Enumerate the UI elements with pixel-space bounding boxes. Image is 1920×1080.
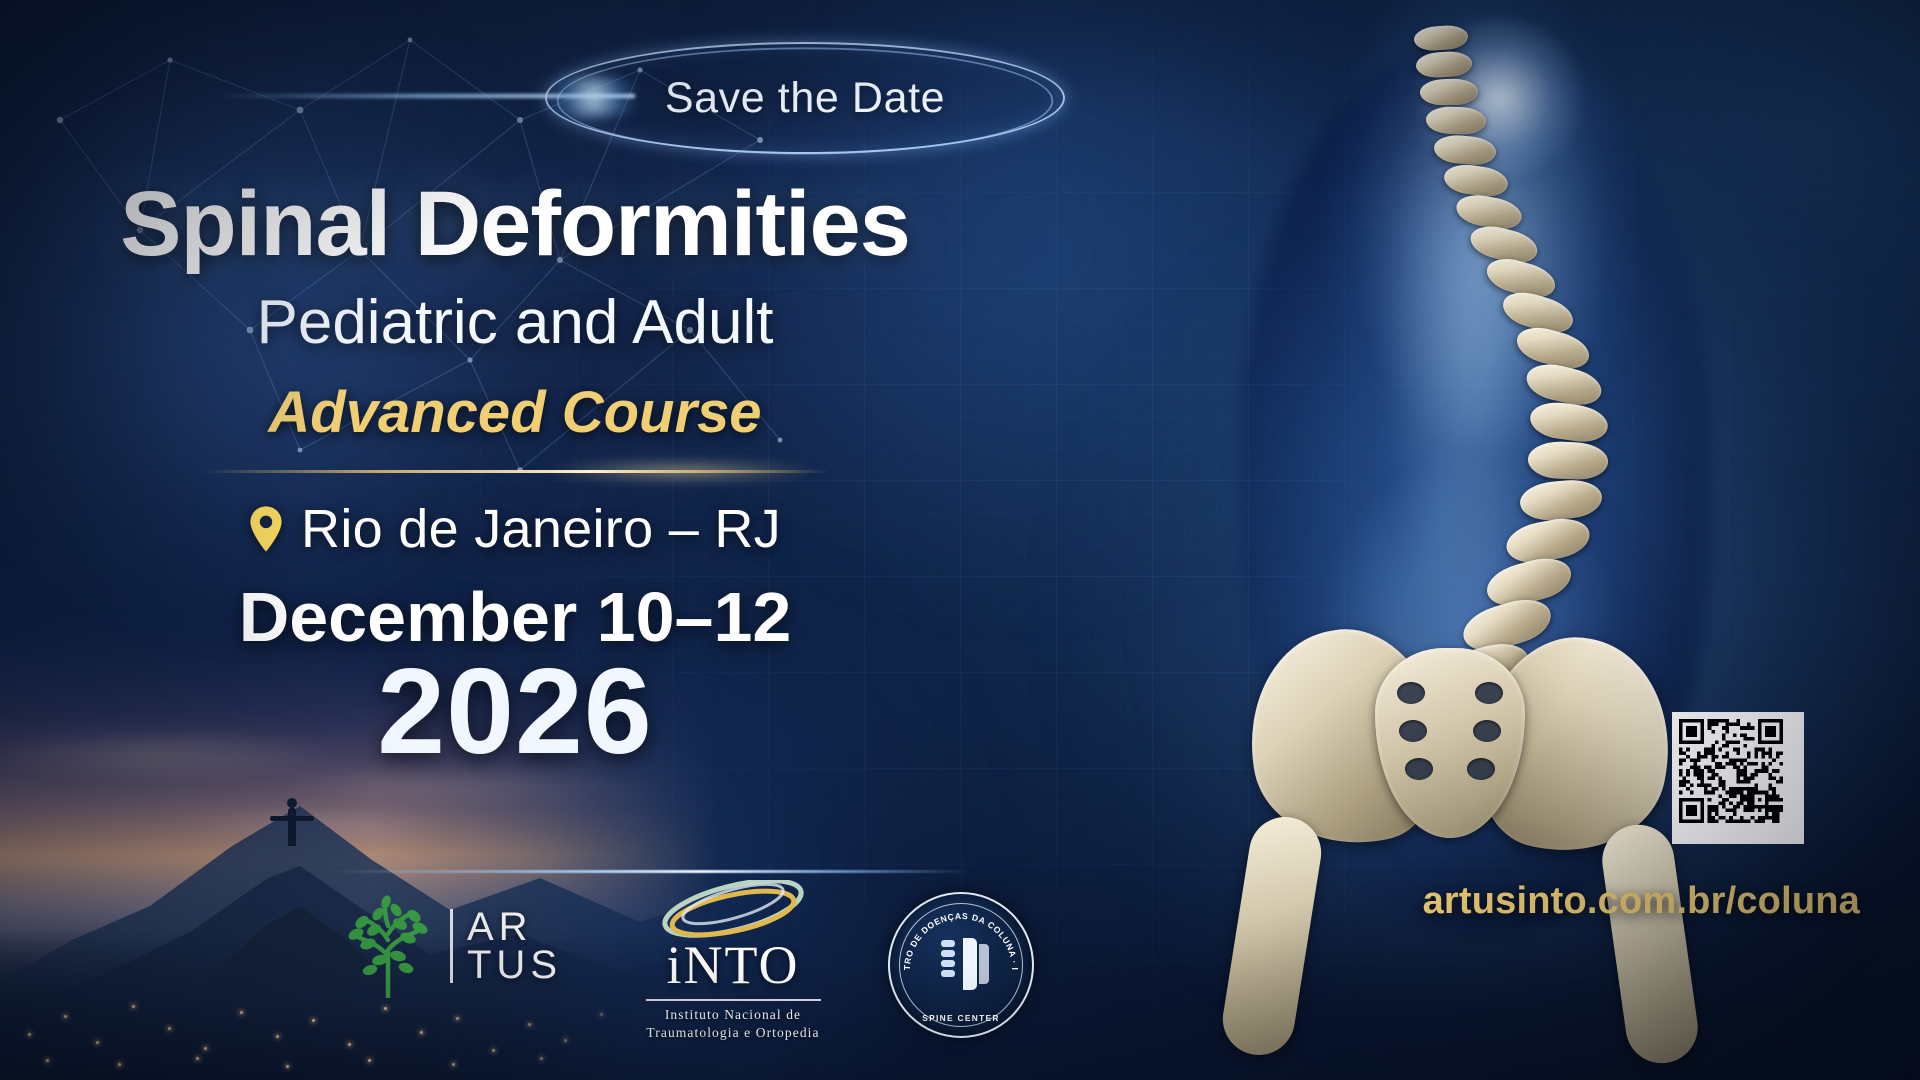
artus-label-line2: TUS — [467, 946, 562, 984]
event-url[interactable]: artusinto.com.br/coluna — [1423, 880, 1860, 923]
tree-icon — [340, 894, 436, 998]
logo-divider-bar — [450, 909, 453, 983]
qr-code[interactable] — [1672, 712, 1804, 844]
save-the-date-badge: Save the Date — [545, 42, 1065, 154]
into-logo[interactable]: iNTO Instituto Nacional de Traumatologia… — [618, 880, 848, 1042]
into-rule — [646, 999, 821, 1001]
artus-logo[interactable]: AR TUS — [340, 894, 562, 998]
into-wordmark: iNTO — [618, 938, 848, 992]
poster-root: Save the Date Spinal Deformities Pediatr… — [0, 0, 1920, 1080]
event-dates: December 10–12 — [0, 582, 1030, 652]
location-row: Rio de Janeiro – RJ — [0, 498, 1030, 560]
page-subtitle: Pediatric and Adult — [0, 292, 1030, 354]
seal-bottom-label: SPINE CENTER — [890, 1013, 1032, 1023]
course-type-label: Advanced Course — [0, 384, 1030, 442]
artus-label-line1: AR — [467, 908, 562, 946]
bottom-light-line — [330, 870, 970, 873]
location-label: Rio de Janeiro – RJ — [301, 498, 781, 560]
save-the-date-label: Save the Date — [545, 42, 1065, 154]
qr-code-image — [1679, 719, 1783, 823]
swirl-icon — [643, 880, 823, 942]
spine-seal-icon — [931, 934, 991, 994]
into-subtitle-line2: Traumatologia e Ortopedia — [618, 1024, 848, 1042]
spine-center-seal[interactable]: CENTRO DE DOENÇAS DA COLUNA · INTO SPINE… — [888, 892, 1034, 1038]
logo-row: AR TUS iNTO Instituto Nacional de Trauma… — [340, 880, 1120, 1060]
page-title: Spinal Deformities — [0, 178, 1030, 270]
event-year: 2026 — [0, 650, 1030, 772]
into-subtitle-line1: Instituto Nacional de — [618, 1006, 848, 1024]
gold-divider — [200, 470, 830, 473]
map-pin-icon — [249, 506, 283, 552]
